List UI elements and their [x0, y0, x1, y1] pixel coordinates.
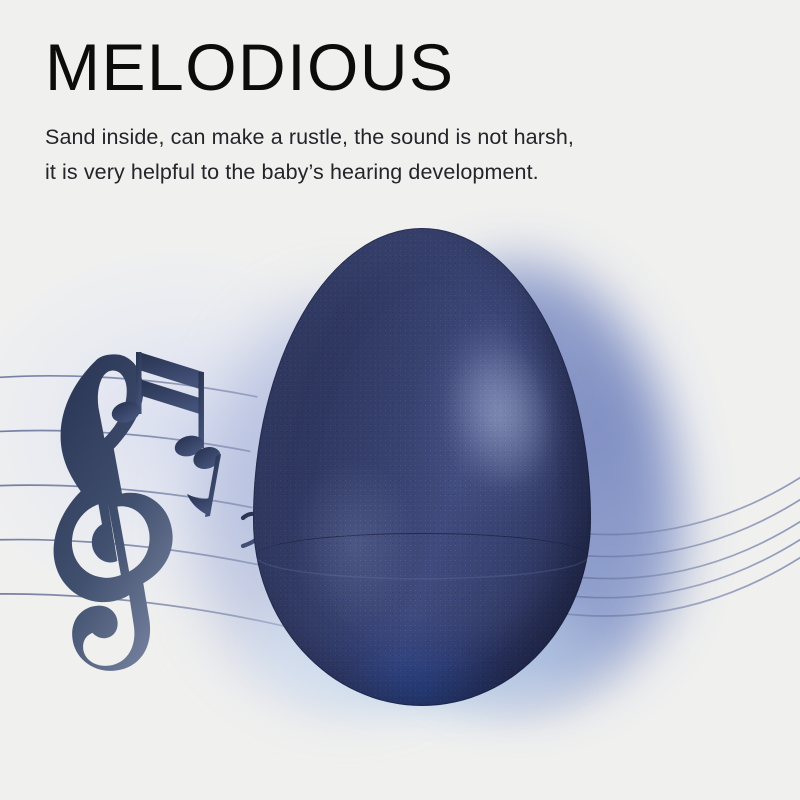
beamed-notes-icon	[109, 352, 205, 460]
description-line-1: Sand inside, can make a rustle, the soun…	[45, 120, 745, 156]
egg-shaker-product	[253, 228, 591, 706]
treble-clef-icon	[54, 354, 173, 670]
description-paragraph: Sand inside, can make a rustle, the soun…	[45, 120, 745, 191]
egg-rim-edge	[253, 228, 591, 706]
headline-title: MELODIOUS	[45, 33, 745, 102]
product-banner: MELODIOUS Sand inside, can make a rustle…	[0, 0, 800, 800]
copy-block: MELODIOUS Sand inside, can make a rustle…	[45, 33, 745, 191]
eighth-note-icon	[187, 443, 224, 517]
description-line-2: it is very helpful to the baby’s hearing…	[45, 155, 745, 191]
